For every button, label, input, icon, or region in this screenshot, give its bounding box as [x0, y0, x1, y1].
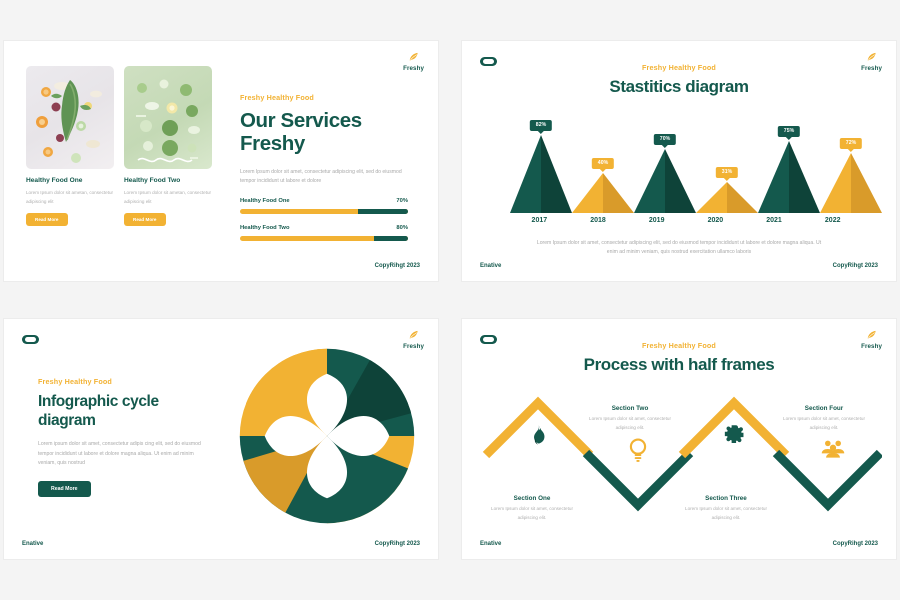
mountain-shape [758, 141, 820, 213]
service-cards: Healthy Food One Lorem Ipsum dolor sit a… [26, 66, 212, 226]
brand-logo: Freshy [403, 51, 424, 72]
service-card-two[interactable]: Healthy Food Two Lorem Ipsum dolor sit a… [124, 66, 212, 226]
progress-row: Healthy Food Two 80% [240, 225, 408, 241]
footer-brand: Enative [480, 263, 501, 269]
statistics-header: Freshy Healthy Food Stastitics diagram [462, 63, 896, 97]
puzzle-piece-icon [724, 423, 746, 451]
chart-callout: 72% [840, 131, 862, 149]
section-desc: Lorem Ipsum dolor sit amet, consectetur … [680, 505, 772, 522]
page-title: Infographic cycle diagram [38, 393, 203, 430]
section-title: Section Three [680, 495, 772, 502]
x-tick-label: 2017 [510, 217, 569, 224]
progress-value: 80% [396, 225, 408, 231]
page-title-line1: Our Services [240, 109, 362, 132]
brand-name: Freshy [403, 66, 424, 72]
service-card-one[interactable]: Healthy Food One Lorem Ipsum dolor sit a… [26, 66, 114, 226]
chart-bar-2017[interactable]: 82% [510, 121, 572, 213]
footer-copyright: CopyRihgt 2023 [375, 263, 420, 269]
chart-value-label: 31% [722, 169, 732, 175]
page-title: Our Services Freshy [240, 109, 408, 156]
vegetables-photo-kale [26, 66, 114, 169]
process-section-one[interactable]: Section One Lorem Ipsum dolor sit amet, … [486, 495, 578, 522]
eyebrow-label: Freshy Healthy Food [462, 341, 896, 350]
mountain-shape [572, 173, 634, 213]
people-group-icon [820, 439, 846, 464]
progress-row: Healthy Food One 70% [240, 198, 408, 214]
x-tick-label: 2021 [745, 217, 804, 224]
chart-value-label: 70% [660, 136, 670, 142]
footer-brand: Enative [22, 541, 43, 547]
footer-copyright: CopyRihgt 2023 [833, 263, 878, 269]
page-title-line2: diagram [38, 412, 96, 429]
eyebrow-label: Freshy Healthy Food [462, 63, 896, 72]
chart-bar-2022[interactable]: 72% [820, 121, 882, 213]
progress-label: Healthy Food One [240, 198, 290, 204]
mountain-shape [820, 153, 882, 213]
x-tick-label: 2018 [569, 217, 628, 224]
menu-pill-icon[interactable] [22, 335, 39, 344]
progress-bar [240, 236, 408, 241]
mountain-shape [696, 182, 758, 213]
service-card-title: Healthy Food Two [124, 177, 212, 184]
section-title: Section Two [584, 405, 676, 412]
x-tick-label: 2020 [686, 217, 745, 224]
four-petal-cycle-diagram[interactable] [238, 347, 416, 525]
mountain-shape [510, 135, 572, 213]
body-paragraph: Lorem Ipsum dolor sit amet, consectetur … [532, 239, 826, 258]
process-header: Freshy Healthy Food Process with half fr… [462, 341, 896, 375]
read-more-button[interactable]: Read More [38, 481, 91, 497]
page-title: Process with half frames [462, 355, 896, 375]
mountain-bar-chart: 82% 40% 70% [510, 121, 862, 213]
services-copy-block: Freshy Healthy Food Our Services Freshy … [240, 93, 408, 241]
vegetables-photo-green [124, 66, 212, 169]
section-title: Section Four [778, 405, 870, 412]
service-card-title: Healthy Food One [26, 177, 114, 184]
eyebrow-label: Freshy Healthy Food [38, 377, 203, 386]
chart-bar-2018[interactable]: 40% [572, 121, 634, 213]
progress-bar [240, 209, 408, 214]
service-card-desc: Lorem Ipsum dolor sit ametan, consectetu… [124, 189, 212, 206]
progress-bar-remainder [374, 236, 408, 241]
body-paragraph: Lorem ipsum dolor sit amet, consectetur … [38, 440, 203, 468]
eyebrow-label: Freshy Healthy Food [240, 93, 408, 102]
footer-copyright: CopyRihgt 2023 [833, 541, 878, 547]
read-more-button[interactable]: Read More [26, 213, 68, 226]
section-title: Section One [486, 495, 578, 502]
read-more-button[interactable]: Read More [124, 213, 166, 226]
process-section-four[interactable]: Section Four Lorem Ipsum dolor sit amet,… [778, 405, 870, 432]
chart-bar-2019[interactable]: 70% [634, 121, 696, 213]
chart-value-label: 72% [846, 140, 856, 146]
cycle-copy-block: Freshy Healthy Food Infographic cycle di… [38, 377, 203, 497]
chart-bar-2020[interactable]: 31% [696, 121, 758, 213]
body-paragraph: Lorem Ipsum dolor sit amet, consectetur … [240, 168, 408, 187]
section-desc: Lorem Ipsum dolor sit amet, consectetur … [486, 505, 578, 522]
lightbulb-icon [628, 437, 648, 468]
footer-brand: Enative [480, 541, 501, 547]
chart-value-label: 40% [598, 160, 608, 166]
chart-x-axis: 2017 2018 2019 2020 2021 2022 [510, 217, 862, 224]
process-section-three[interactable]: Section Three Lorem Ipsum dolor sit amet… [680, 495, 772, 522]
flame-icon [528, 425, 548, 454]
slide-process-half-frames[interactable]: Freshy Freshy Healthy Food Process with … [462, 319, 896, 559]
leaf-icon [403, 51, 424, 65]
chart-bar-2021[interactable]: 75% [758, 121, 820, 213]
chart-value-label: 82% [536, 122, 546, 128]
progress-value: 70% [396, 198, 408, 204]
page-title-line2: Freshy [240, 132, 305, 155]
progress-bar-remainder [358, 209, 408, 214]
slide-infographic-cycle[interactable]: Freshy Freshy Healthy Food Infographic c… [4, 319, 438, 559]
chart-callout: 82% [530, 113, 552, 131]
process-section-two[interactable]: Section Two Lorem Ipsum dolor sit amet, … [584, 405, 676, 432]
section-desc: Lorem Ipsum dolor sit amet, consectetur … [584, 415, 676, 432]
service-card-desc: Lorem Ipsum dolor sit ametan, consectetu… [26, 189, 114, 206]
slide-statistics-diagram[interactable]: Freshy Freshy Healthy Food Stastitics di… [462, 41, 896, 281]
slide-our-services[interactable]: Freshy [4, 41, 438, 281]
mountain-shape [634, 149, 696, 213]
chart-callout: 31% [716, 160, 738, 178]
slide-board: Freshy [0, 0, 900, 600]
footer-copyright: CopyRihgt 2023 [375, 541, 420, 547]
leaf-icon [403, 329, 424, 343]
page-title: Stastitics diagram [462, 77, 896, 97]
progress-label: Healthy Food Two [240, 225, 290, 231]
section-desc: Lorem Ipsum dolor sit amet, consectetur … [778, 415, 870, 432]
page-title-line1: Infographic cycle [38, 393, 159, 410]
chart-value-label: 75% [784, 128, 794, 134]
chart-callout: 40% [592, 151, 614, 169]
chart-callout: 70% [654, 127, 676, 145]
x-tick-label: 2022 [803, 217, 862, 224]
chart-callout: 75% [778, 119, 800, 137]
x-tick-label: 2019 [627, 217, 686, 224]
